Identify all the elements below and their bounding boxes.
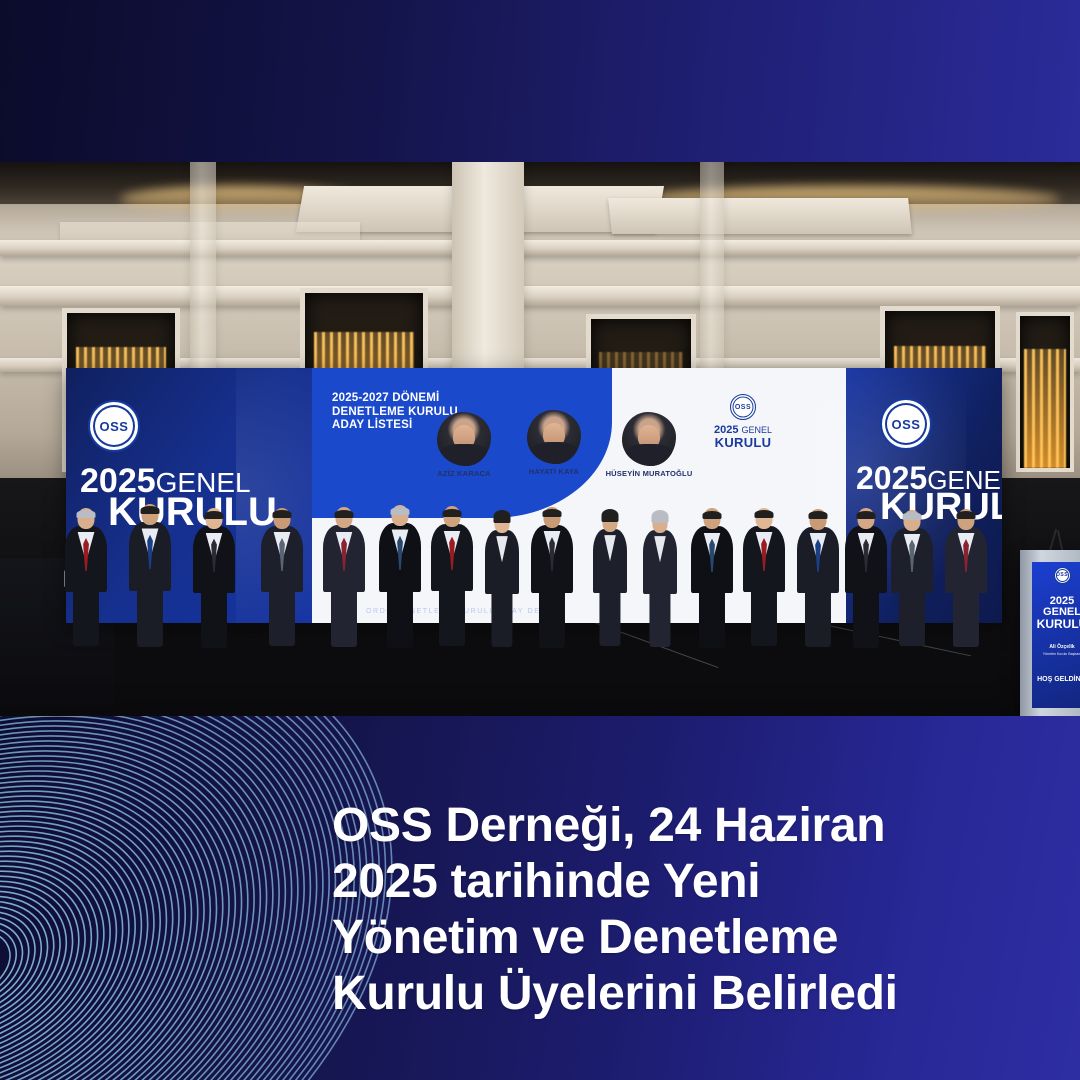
oss-logo-text: OSS	[100, 420, 129, 433]
person-silhouette	[65, 496, 107, 646]
oss-logo-icon: OSS	[1054, 567, 1071, 584]
person-silhouette	[691, 496, 733, 648]
oss-logo-text: OSS	[892, 418, 921, 431]
person-silhouette	[797, 497, 839, 647]
candidate-card: HAYATİ KAYA	[508, 410, 600, 476]
podium-welcome: HOŞ GELDİNİZ	[1036, 676, 1080, 683]
oss-logo-icon: OSS	[88, 400, 140, 452]
speaker-podium: OSS 2025 GENEL KURULU Ali Özçelik Yöneti…	[1020, 550, 1080, 716]
candidate-name: AZİZ KARACA	[418, 469, 510, 478]
podium-screen: OSS 2025 GENEL KURULU Ali Özçelik Yöneti…	[1032, 562, 1080, 708]
backdrop-logo-lockup: OSS 2025 GENEL KURULU	[678, 394, 808, 450]
person-silhouette	[643, 501, 677, 647]
event-photo: OSS 2025GENEL KURULU 2025-2027 DÖNEMİ DE…	[0, 162, 1080, 716]
person-silhouette	[323, 495, 365, 647]
oss-logo-text: OSS	[1056, 573, 1068, 578]
person-silhouette	[261, 496, 303, 646]
candidate-photo	[437, 412, 491, 466]
person-silhouette	[743, 496, 785, 646]
lockup-genel: GENEL	[742, 425, 773, 435]
lockup-kurulu: KURULU	[678, 436, 808, 450]
person-silhouette	[193, 496, 235, 648]
person-silhouette	[485, 501, 519, 647]
podium-speaker-role: Yönetim Kurulu Başkanı	[1036, 652, 1080, 656]
person-silhouette	[379, 492, 421, 648]
person-silhouette	[593, 500, 627, 646]
oss-logo-icon: OSS	[730, 394, 756, 420]
ceiling-coffer	[608, 198, 912, 234]
headline-text: OSS Derneği, 24 Haziran 2025 tarihinde Y…	[332, 798, 1032, 1022]
podium-year-line: 2025 GENEL	[1036, 596, 1080, 618]
candidate-photo	[622, 412, 676, 466]
person-silhouette	[891, 498, 933, 646]
person-silhouette	[531, 494, 573, 648]
person-silhouette	[945, 497, 987, 647]
candidate-name: HÜSEYİN MURATOĞLU	[594, 469, 704, 478]
podium-kurulu-line: KURULU	[1036, 618, 1080, 630]
chandelier-icon	[1024, 349, 1066, 468]
social-media-post: OSS 2025GENEL KURULU 2025-2027 DÖNEMİ DE…	[0, 0, 1080, 1080]
candidate-name: HAYATİ KAYA	[508, 467, 600, 476]
candidate-photo	[527, 410, 581, 464]
person-silhouette	[845, 496, 887, 648]
oss-logo-text: OSS	[735, 404, 751, 411]
wall-alcove	[1016, 312, 1074, 472]
oss-logo-icon: OSS	[880, 398, 932, 450]
podium-speaker-name: Ali Özçelik	[1036, 644, 1080, 650]
top-navy-band	[0, 0, 1080, 162]
person-silhouette	[431, 494, 473, 646]
cornice-mid	[0, 286, 1080, 306]
candidate-card: AZİZ KARACA	[418, 412, 510, 478]
person-silhouette	[129, 491, 171, 647]
cornice-upper	[0, 240, 1080, 256]
aday-heading-line1: 2025-2027 DÖNEMİ	[332, 392, 458, 406]
